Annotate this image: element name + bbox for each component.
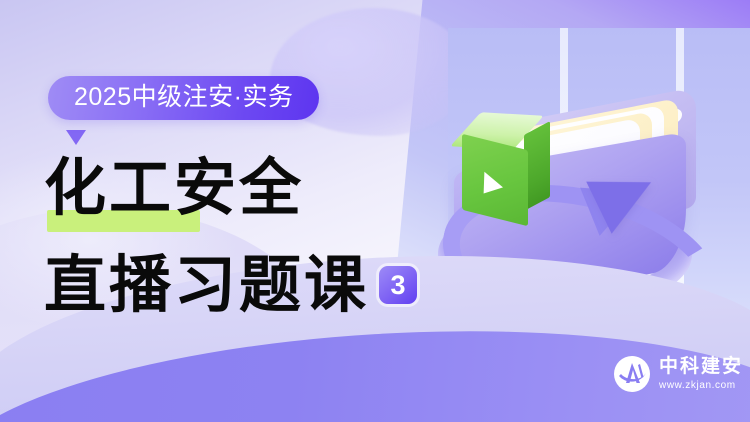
brand-name: 中科建安 xyxy=(659,357,743,376)
page-subtitle: 直播习题课 3 xyxy=(44,252,417,317)
zkjan-person-swoosh-icon xyxy=(614,356,650,392)
logo-glyph-svg xyxy=(614,356,650,392)
course-banner: 2025中级注安·实务 化工安全 直播习题课 3 中科建安 www.zkjan.… xyxy=(0,0,750,422)
page-subtitle-text: 直播习题课 xyxy=(44,252,369,317)
brand-url: www.zkjan.com xyxy=(659,381,743,391)
brand-logo: 中科建安 www.zkjan.com xyxy=(614,356,743,392)
brand-logo-text: 中科建安 www.zkjan.com xyxy=(659,357,743,391)
course-subject-badge: 2025中级注安·实务 xyxy=(48,76,319,120)
page-title: 化工安全 xyxy=(44,155,304,220)
episode-number-badge: 3 xyxy=(379,266,417,304)
play-triangle-icon xyxy=(484,172,504,199)
badge-tail-icon xyxy=(66,130,86,145)
